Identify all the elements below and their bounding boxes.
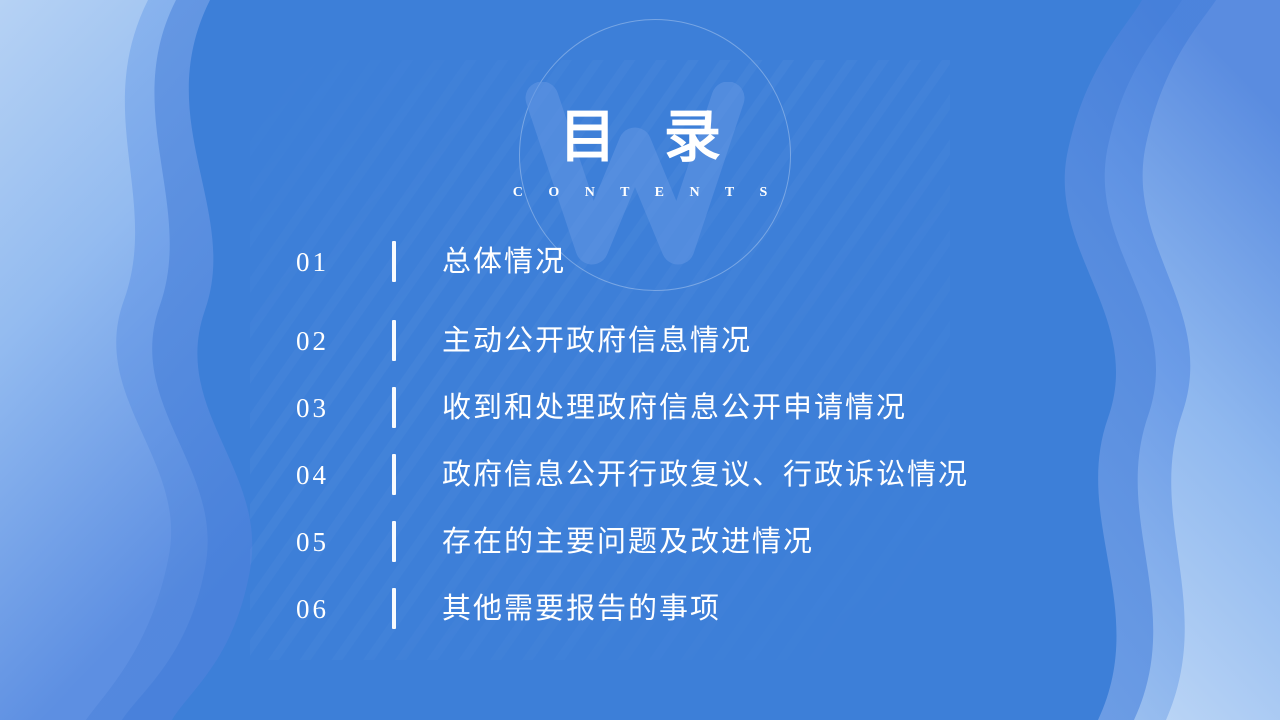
toc-number: 05 <box>296 525 392 559</box>
toc-divider-bar <box>392 521 396 562</box>
list-item[interactable]: 06 其他需要报告的事项 <box>296 580 1056 637</box>
list-item[interactable]: 05 存在的主要问题及改进情况 <box>296 513 1056 570</box>
toc-label[interactable]: 主动公开政府信息情况 <box>396 321 752 361</box>
list-item[interactable]: 02 主动公开政府信息情况 <box>296 312 1056 369</box>
toc-label[interactable]: 政府信息公开行政复议、行政诉讼情况 <box>396 455 969 495</box>
toc-divider-bar <box>392 320 396 361</box>
list-item[interactable]: 01 总体情况 <box>296 233 1056 290</box>
toc-label[interactable]: 其他需要报告的事项 <box>396 589 721 629</box>
toc-divider-bar <box>392 454 396 495</box>
list-item[interactable]: 04 政府信息公开行政复议、行政诉讼情况 <box>296 446 1056 503</box>
toc-number: 03 <box>296 391 392 425</box>
table-of-contents: 01 总体情况 02 主动公开政府信息情况 03 收到和处理政府信息公开申请情况… <box>296 233 1056 647</box>
toc-number: 06 <box>296 592 392 626</box>
toc-divider-bar <box>392 387 396 428</box>
toc-label[interactable]: 收到和处理政府信息公开申请情况 <box>396 388 907 428</box>
toc-label[interactable]: 存在的主要问题及改进情况 <box>396 522 814 562</box>
toc-number: 04 <box>296 458 392 492</box>
toc-label[interactable]: 总体情况 <box>396 242 566 282</box>
toc-divider-bar <box>392 241 396 282</box>
slide-root: 目 录 C O N T E N T S 01 总体情况 02 主动公开政府信息情… <box>0 0 1280 720</box>
list-item[interactable]: 03 收到和处理政府信息公开申请情况 <box>296 379 1056 436</box>
toc-number: 01 <box>296 245 392 279</box>
toc-divider-bar <box>392 588 396 629</box>
toc-number: 02 <box>296 324 392 358</box>
